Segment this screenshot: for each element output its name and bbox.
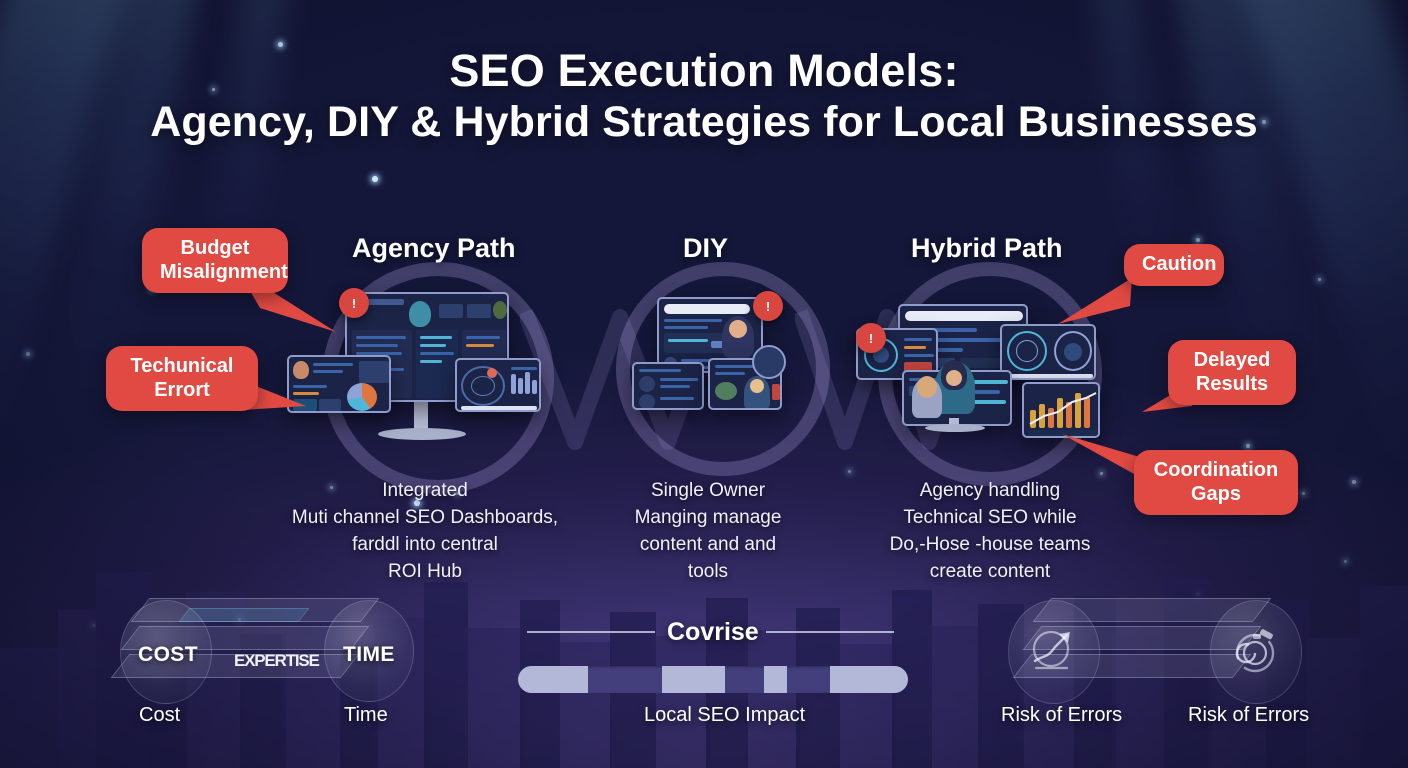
page-title: SEO Execution Models: Agency, DIY & Hybr…	[0, 46, 1408, 150]
time-cap-label: TIME	[343, 643, 395, 667]
callout-delayed-line-2: Results	[1186, 373, 1278, 397]
column-description-agency: Integrated Muti channel SEO Dashboards, …	[286, 478, 564, 586]
callout-technical-line-1: Techunical	[124, 355, 240, 379]
callout-delayed-line-1: Delayed	[1186, 349, 1278, 373]
local-seo-impact-label: Local SEO Impact	[644, 704, 805, 727]
callout-budget-line-1: Budget	[160, 237, 270, 261]
agency-desc-line-1: Integrated	[286, 478, 564, 505]
hybrid-desc-line-4: create content	[876, 559, 1104, 586]
risk-label-left: Risk of Errors	[1001, 704, 1122, 727]
diy-desc-line-2: Manging manage	[610, 505, 806, 532]
callout-caution[interactable]: Caution	[1124, 244, 1224, 286]
callout-technical-line-2: Errort	[124, 379, 240, 403]
agency-desc-line-4: ROI Hub	[286, 559, 564, 586]
column-description-diy: Single Owner Manging manage content and …	[610, 478, 806, 586]
callout-budget-misalignment[interactable]: Budget Misalignment	[142, 228, 288, 293]
agency-desc-line-2: Muti channel SEO Dashboards,	[286, 505, 564, 532]
impact-segment-1	[518, 666, 588, 693]
target-clock-icon	[1210, 600, 1302, 704]
covrise-heading: Covrise	[667, 618, 759, 647]
agency-desc-line-3: farddl into central	[286, 532, 564, 559]
covrise-rule-right	[766, 631, 894, 633]
time-label: Time	[344, 704, 388, 727]
cost-label: Cost	[139, 704, 180, 727]
callout-coordination-gaps[interactable]: Coordination Gaps	[1134, 450, 1298, 515]
infographic-canvas: SEO Execution Models: Agency, DIY & Hybr…	[0, 0, 1408, 768]
diy-desc-line-3: content and and	[610, 532, 806, 559]
callout-tail-caution	[1056, 274, 1134, 328]
callout-delayed-results[interactable]: Delayed Results	[1168, 340, 1296, 405]
column-heading-agency: Agency Path	[352, 233, 516, 264]
diy-desc-line-1: Single Owner	[610, 478, 806, 505]
local-seo-impact-bar[interactable]	[518, 666, 908, 693]
alert-badge-hybrid: !	[856, 323, 886, 353]
impact-segment-2	[662, 666, 724, 693]
covrise-rule-left	[527, 631, 655, 633]
column-description-hybrid: Agency handling Technical SEO while Do,-…	[876, 478, 1104, 586]
impact-segment-3	[764, 666, 787, 693]
title-line-1: SEO Execution Models:	[0, 46, 1408, 96]
callout-caution-line-1: Caution	[1142, 253, 1206, 277]
callout-technical-error[interactable]: Techunical Errort	[106, 346, 258, 411]
diy-desc-line-4: tools	[610, 559, 806, 586]
callout-coordination-line-2: Gaps	[1152, 483, 1280, 507]
alert-badge-diy: !	[753, 291, 783, 321]
risk-label-right: Risk of Errors	[1188, 704, 1309, 727]
callout-budget-line-2: Misalignment	[160, 261, 270, 285]
callout-coordination-line-1: Coordination	[1152, 459, 1280, 483]
column-heading-hybrid: Hybrid Path	[911, 233, 1063, 264]
cost-cap-label: COST	[138, 643, 198, 667]
hybrid-desc-line-2: Technical SEO while	[876, 505, 1104, 532]
growth-arrow-icon	[1008, 600, 1100, 704]
hybrid-desc-line-3: Do,-Hose -house teams	[876, 532, 1104, 559]
expertise-cap-label: EXPERTISE	[234, 651, 319, 671]
column-heading-diy: DIY	[683, 233, 728, 264]
impact-segment-4	[830, 666, 908, 693]
title-line-2: Agency, DIY & Hybrid Strategies for Loca…	[0, 96, 1408, 150]
